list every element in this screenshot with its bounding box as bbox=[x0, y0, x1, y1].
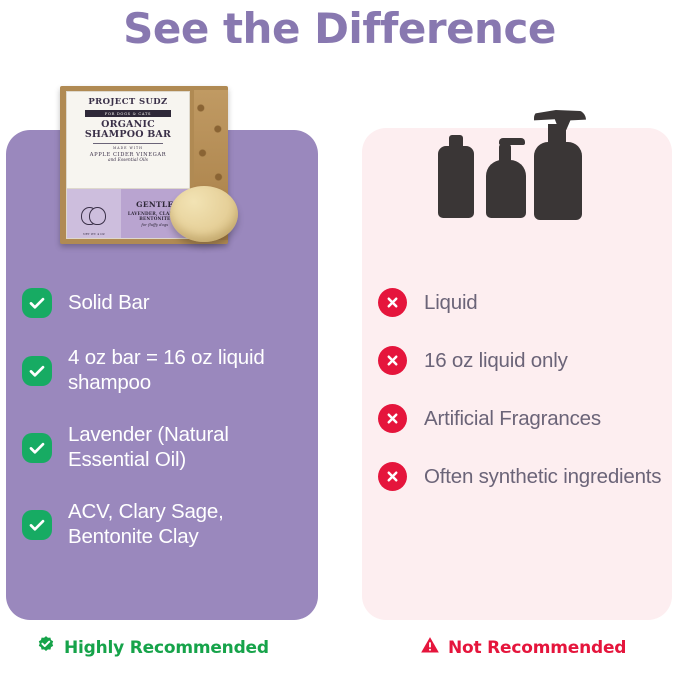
spray-bottle-icon bbox=[534, 142, 582, 220]
bottle-icon bbox=[438, 146, 474, 218]
list-item-label: Liquid bbox=[424, 291, 478, 316]
made-with-label: MADE WITH bbox=[72, 146, 184, 150]
check-circle-icon bbox=[22, 433, 52, 463]
x-circle-icon bbox=[378, 404, 408, 434]
check-circle-icon bbox=[22, 510, 52, 540]
list-item: Solid Bar bbox=[22, 288, 312, 318]
liquid-bottles-image bbox=[428, 108, 598, 238]
list-item: ACV, Clary Sage, Bentonite Clay bbox=[22, 500, 312, 549]
x-circle-icon bbox=[378, 462, 408, 492]
highly-recommended-badge: Highly Recommended bbox=[36, 635, 269, 660]
soap-bar-icon bbox=[170, 186, 238, 242]
net-weight: NET WT. 4 OZ bbox=[67, 232, 121, 236]
not-recommended-label: Not Recommended bbox=[448, 638, 626, 658]
scent-title: GENTLE bbox=[136, 200, 173, 209]
apple-panel: NET WT. 4 OZ bbox=[67, 189, 121, 238]
check-circle-icon bbox=[22, 288, 52, 318]
list-item-label: 4 oz bar = 16 oz liquid shampoo bbox=[68, 346, 312, 395]
list-item-label: Lavender (Natural Essential Oil) bbox=[68, 423, 312, 472]
list-item-label: Often synthetic ingredients bbox=[424, 465, 661, 490]
highly-recommended-label: Highly Recommended bbox=[64, 638, 269, 658]
list-item: Liquid bbox=[378, 288, 668, 318]
x-circle-icon bbox=[378, 288, 408, 318]
warning-triangle-icon bbox=[420, 635, 448, 660]
list-item-label: Artificial Fragrances bbox=[424, 407, 601, 432]
not-recommended-badge: Not Recommended bbox=[420, 635, 626, 660]
page-title: See the Difference bbox=[0, 4, 679, 53]
footer: Highly Recommended Not Recommended bbox=[0, 631, 679, 665]
left-feature-list: Solid Bar 4 oz bar = 16 oz liquid shampo… bbox=[22, 288, 312, 578]
brand-name: PROJECT SUDZ bbox=[72, 98, 184, 107]
list-item: 16 oz liquid only bbox=[378, 346, 668, 376]
comparison-infographic: See the Difference PROJECT SUDZ FOR DOGS… bbox=[0, 0, 679, 673]
list-item-label: ACV, Clary Sage, Bentonite Clay bbox=[68, 500, 312, 549]
scent-tag: for fluffy dogs bbox=[141, 222, 168, 227]
verified-badge-icon bbox=[36, 635, 64, 660]
ingredient-sub-label: and Essential Oils bbox=[72, 158, 184, 163]
product-name: ORGANIC SHAMPOO BAR bbox=[72, 120, 184, 140]
list-item-label: Solid Bar bbox=[68, 291, 149, 316]
list-item: Artificial Fragrances bbox=[378, 404, 668, 434]
list-item-label: 16 oz liquid only bbox=[424, 349, 568, 374]
pump-bottle-icon bbox=[486, 160, 526, 218]
apple-icon bbox=[81, 202, 107, 226]
label-divider bbox=[93, 143, 163, 144]
list-item: 4 oz bar = 16 oz liquid shampoo bbox=[22, 346, 312, 395]
brand-ribbon: FOR DOGS & CATS bbox=[85, 110, 171, 117]
right-feature-list: Liquid 16 oz liquid only Artificial Frag… bbox=[378, 288, 668, 520]
list-item: Often synthetic ingredients bbox=[378, 462, 668, 492]
product-box-image: PROJECT SUDZ FOR DOGS & CATS ORGANIC SHA… bbox=[60, 86, 250, 256]
x-circle-icon bbox=[378, 346, 408, 376]
check-circle-icon bbox=[22, 356, 52, 386]
list-item: Lavender (Natural Essential Oil) bbox=[22, 423, 312, 472]
